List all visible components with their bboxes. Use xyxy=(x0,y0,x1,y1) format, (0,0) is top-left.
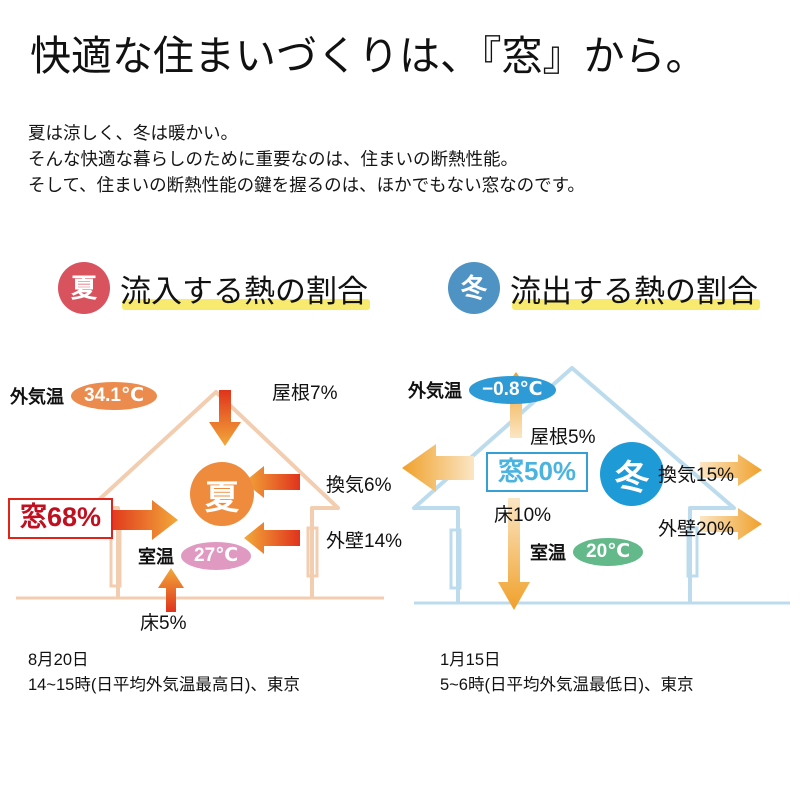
summer-ventilation-label: 換気6% xyxy=(326,470,391,497)
summer-indoor-temp: 室温 27℃ xyxy=(138,542,251,570)
winter-indoor-temp-label: 室温 xyxy=(530,539,566,565)
section-header-winter: 冬 流出する熱の割合 xyxy=(448,262,758,314)
summer-outdoor-temp: 外気温 34.1℃ xyxy=(10,382,157,410)
summer-outdoor-temp-value: 34.1℃ xyxy=(71,382,157,410)
summer-indoor-temp-label: 室温 xyxy=(138,543,174,569)
diagram-summer: 外気温 34.1℃ 屋根7% 換気6% 外壁14% 床5% 窓68% 夏 室温 … xyxy=(0,360,400,640)
summer-roof-label: 屋根7% xyxy=(272,378,337,405)
winter-outdoor-temp-label: 外気温 xyxy=(408,377,462,403)
summer-season-mark: 夏 xyxy=(190,462,254,526)
season-badge-summer: 夏 xyxy=(58,262,110,314)
lead-line-2: そんな快適な暮らしのために重要なのは、住まいの断熱性能。 xyxy=(28,146,585,172)
lead-paragraph: 夏は涼しく、冬は暖かい。 そんな快適な暮らしのために重要なのは、住まいの断熱性能… xyxy=(28,120,585,198)
caption-summer: 8月20日 14~15時(日平均外気温最高日)、東京 xyxy=(28,648,300,698)
winter-indoor-temp: 室温 20℃ xyxy=(530,538,643,566)
page-title: 快適な住まいづくりは、『窓』から。 xyxy=(30,22,707,82)
section-title-summer: 流入する熱の割合 xyxy=(120,266,368,311)
winter-outdoor-temp: 外気温 −0.8℃ xyxy=(408,376,556,404)
summer-window-ratio-box: 窓68% xyxy=(8,498,113,539)
summer-outdoor-temp-label: 外気温 xyxy=(10,383,64,409)
summer-wall-label: 外壁14% xyxy=(326,526,402,553)
diagram-winter: 外気温 −0.8℃ 屋根5% 窓50% 冬 換気15% 外壁20% 床10% 室… xyxy=(400,360,800,640)
caption-winter: 1月15日 5~6時(日平均外気温最低日)、東京 xyxy=(440,648,693,698)
season-badge-winter: 冬 xyxy=(448,262,500,314)
section-title-winter: 流出する熱の割合 xyxy=(510,266,758,311)
summer-floor-label: 床5% xyxy=(140,608,186,635)
winter-indoor-temp-value: 20℃ xyxy=(573,538,643,566)
winter-floor-label: 床10% xyxy=(494,500,551,527)
poster-root: 快適な住まいづくりは、『窓』から。 夏は涼しく、冬は暖かい。 そんな快適な暮らし… xyxy=(0,0,800,800)
section-title-wrap-winter: 流出する熱の割合 xyxy=(510,266,758,311)
lead-line-1: 夏は涼しく、冬は暖かい。 xyxy=(28,120,585,146)
lead-line-3: そして、住まいの断熱性能の鍵を握るのは、ほかでもない窓なのです。 xyxy=(28,172,585,198)
summer-indoor-temp-value: 27℃ xyxy=(181,542,251,570)
winter-ventilation-label: 換気15% xyxy=(658,460,734,487)
caption-summer-detail: 14~15時(日平均外気温最高日)、東京 xyxy=(28,673,300,698)
winter-season-mark: 冬 xyxy=(600,442,664,506)
section-header-summer: 夏 流入する熱の割合 xyxy=(58,262,368,314)
winter-window-ratio-box: 窓50% xyxy=(486,452,588,492)
winter-roof-label: 屋根5% xyxy=(530,422,595,449)
caption-winter-date: 1月15日 xyxy=(440,648,693,673)
winter-wall-label: 外壁20% xyxy=(658,514,734,541)
section-title-wrap-summer: 流入する熱の割合 xyxy=(120,266,368,311)
caption-summer-date: 8月20日 xyxy=(28,648,300,673)
winter-outdoor-temp-value: −0.8℃ xyxy=(469,376,556,404)
caption-winter-detail: 5~6時(日平均外気温最低日)、東京 xyxy=(440,673,693,698)
